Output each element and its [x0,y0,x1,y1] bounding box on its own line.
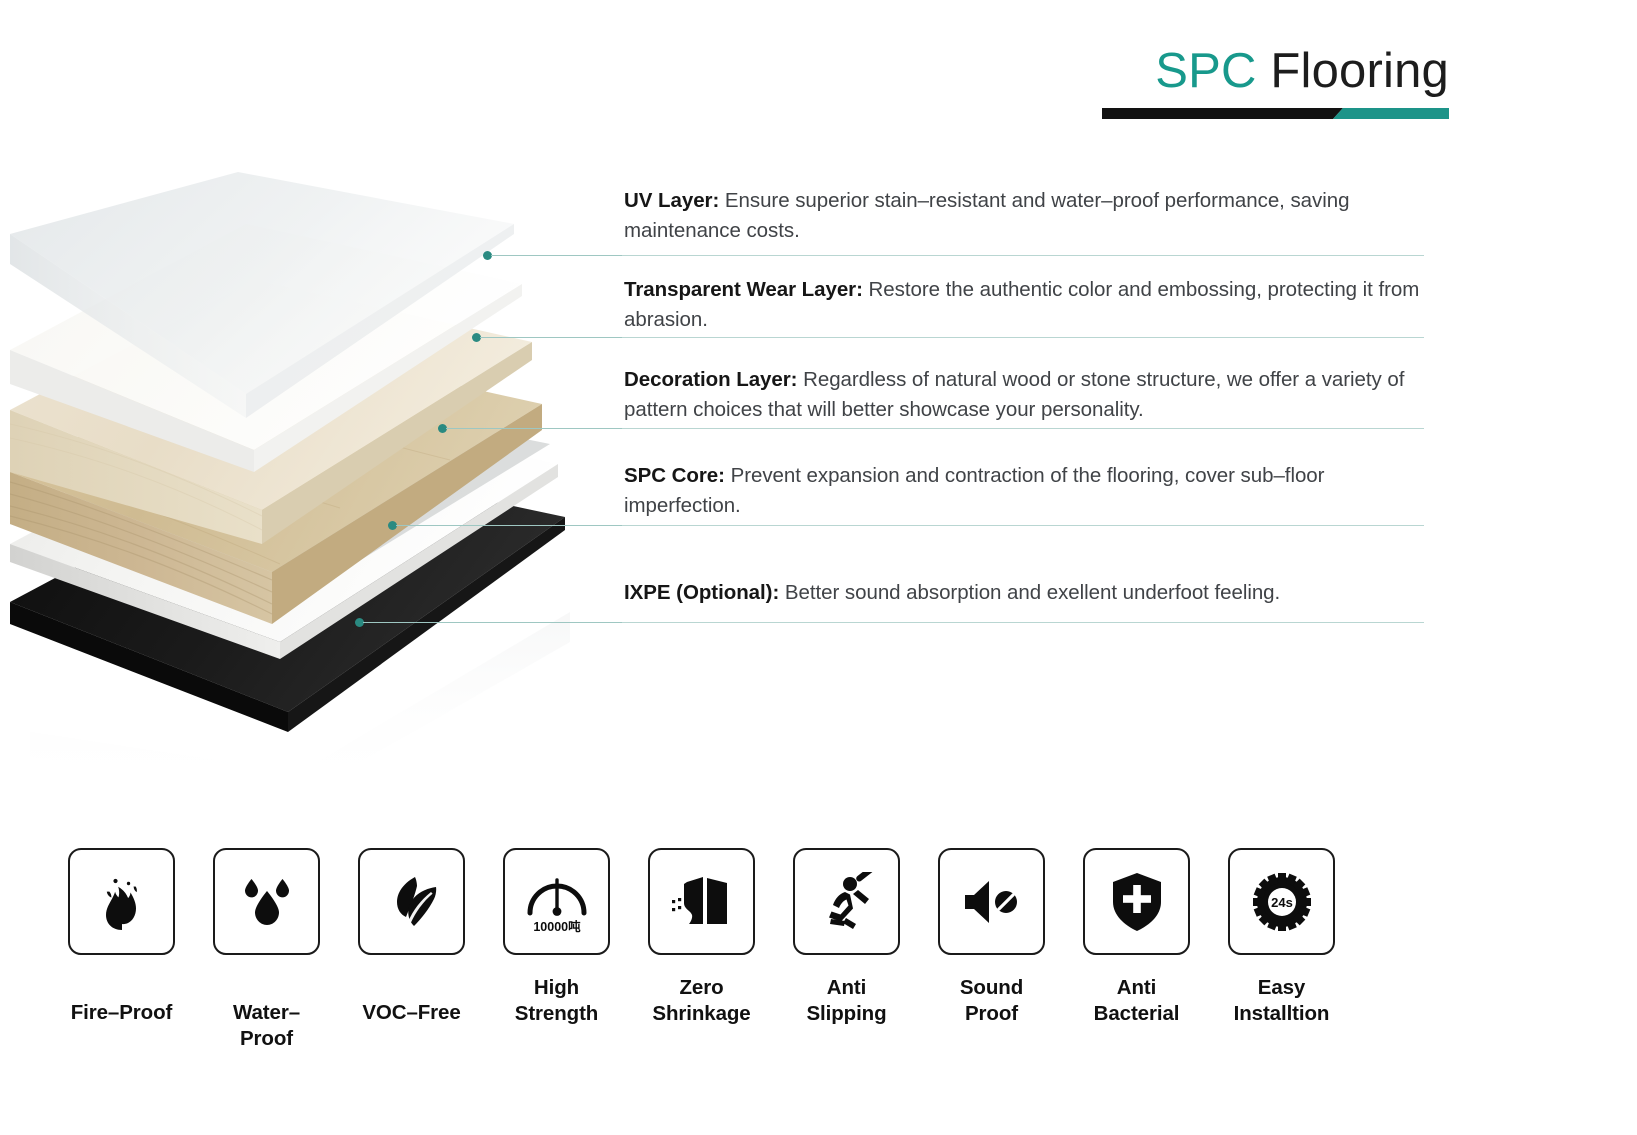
feature-anti-slipping-box [793,848,900,955]
water-drops-icon [239,874,295,930]
feature-zero-shrinkage-box [648,848,755,955]
feature-voc-free: VOC–Free [358,848,465,1052]
flame-icon [95,873,149,931]
callout-decoration-layer-label: Decoration Layer: [624,368,797,391]
callout-transparent-wear-layer-rule [622,337,1424,338]
page-title-accent: SPC [1155,44,1256,98]
feature-voc-free-box [358,848,465,955]
callout-uv-layer-label: UV Layer: [624,189,719,212]
callout-ixpe-rule [622,622,1424,623]
title-underline-rule [1102,108,1449,119]
feature-anti-bacterial-label: Anti Bacterial [1094,975,1180,1027]
gear-badge-text: 24s [1271,895,1293,910]
feature-easy-installation-label: Easy Installtion [1234,975,1330,1027]
feature-voc-free-label: VOC–Free [362,1000,460,1026]
gauge-badge-text: 10000吨 [533,919,581,934]
callout-uv-layer-text: UV Layer: Ensure superior stain–resistan… [624,186,1424,246]
feature-anti-slipping: Anti Slipping [793,848,900,1052]
callout-transparent-wear-layer: Transparent Wear Layer: Restore the auth… [624,275,1424,335]
callout-spc-core-label: SPC Core: [624,464,725,487]
callout-uv-layer-body: Ensure superior stain–resistant and wate… [624,189,1349,242]
feature-easy-installation: 24s Easy Installtion [1228,848,1335,1052]
feature-zero-shrinkage-label: Zero Shrinkage [652,975,750,1027]
plank-icon [670,874,734,930]
callout-uv-layer: UV Layer: Ensure superior stain–resistan… [624,186,1424,246]
feature-high-strength-box: 10000吨 [503,848,610,955]
callout-spc-core: SPC Core: Prevent expansion and contract… [624,461,1424,521]
feature-water-proof-box [213,848,320,955]
feature-strip: Fire–Proof Water–Proof VOC [0,848,1637,1052]
callout-transparent-wear-layer-label: Transparent Wear Layer: [624,278,863,301]
spc-flooring-infographic: SPC Flooring [0,0,1637,1135]
feature-anti-bacterial-box [1083,848,1190,955]
callout-ixpe-label: IXPE (Optional): [624,581,779,604]
feature-sound-proof-box [938,848,1045,955]
feature-anti-bacterial: Anti Bacterial [1083,848,1190,1052]
leader-line-wear [480,337,623,338]
title-rule-dark-segment [1102,108,1343,119]
feature-sound-proof: Sound Proof [938,848,1045,1052]
page-title-block: SPC Flooring [749,46,1449,119]
callout-spc-core-body: Prevent expansion and contraction of the… [624,464,1324,517]
callout-ixpe: IXPE (Optional): Better sound absorption… [624,578,1424,608]
leader-line-ixpe [363,622,623,623]
callout-decoration-layer-rule [622,428,1424,429]
feature-water-proof: Water–Proof [213,848,320,1052]
leaves-icon [384,874,440,930]
title-rule-teal-segment [1333,108,1449,119]
callout-ixpe-body: Better sound absorption and exellent und… [779,581,1280,604]
feature-high-strength-label: High Strength [515,975,598,1027]
leader-line-decoration [446,428,623,429]
leader-line-core [396,525,623,526]
feature-fire-proof: Fire–Proof [68,848,175,1052]
feature-anti-slipping-label: Anti Slipping [806,975,886,1027]
callout-uv-layer-rule [622,255,1424,256]
gauge-icon: 10000吨 [521,868,593,936]
callout-decoration-layer-text: Decoration Layer: Regardless of natural … [624,365,1424,425]
feature-high-strength: 10000吨 High Strength [503,848,610,1052]
shield-plus-icon [1111,872,1163,932]
slipping-person-icon [817,872,877,932]
muted-speaker-icon [961,878,1023,926]
leader-line-uv [491,255,623,256]
feature-water-proof-label: Water–Proof [213,1000,320,1052]
feature-fire-proof-label: Fire–Proof [71,1000,173,1026]
page-title: SPC Flooring [749,46,1449,98]
callout-ixpe-text: IXPE (Optional): Better sound absorption… [624,578,1424,608]
feature-sound-proof-label: Sound Proof [960,975,1023,1027]
callout-spc-core-rule [622,525,1424,526]
feature-zero-shrinkage: Zero Shrinkage [648,848,755,1052]
feature-fire-proof-box [68,848,175,955]
callout-spc-core-text: SPC Core: Prevent expansion and contract… [624,461,1424,521]
callout-transparent-wear-layer-text: Transparent Wear Layer: Restore the auth… [624,275,1424,335]
feature-easy-installation-box: 24s [1228,848,1335,955]
page-title-rest: Flooring [1257,44,1449,98]
gear-icon: 24s [1253,873,1311,931]
callout-decoration-layer: Decoration Layer: Regardless of natural … [624,365,1424,425]
flooring-layers-illustration [10,172,610,792]
